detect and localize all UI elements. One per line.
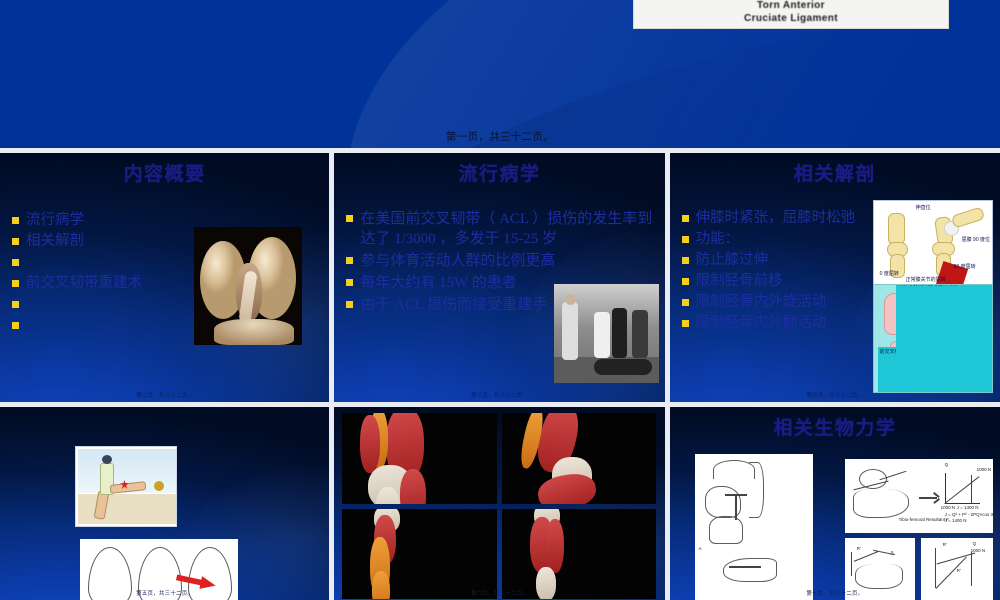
knee-muscle-3d-flexed bbox=[342, 509, 497, 600]
hero-card-line-1: Torn Anterior bbox=[757, 0, 825, 12]
square-bullet-icon bbox=[12, 322, 19, 329]
diagram-caption: Tibio-femoral Resultant F bbox=[899, 517, 993, 533]
list-item-label: 相关解剖 bbox=[26, 232, 84, 251]
square-bullet-icon bbox=[346, 257, 353, 264]
list-item-label: 功能： bbox=[696, 230, 740, 249]
list-item[interactable]: 在美国前交叉韧带（ ACL ）损伤的发生率到达了 1/3000 ，多发于 15-… bbox=[346, 209, 654, 249]
knee-muscle-3d-anterior bbox=[342, 413, 497, 504]
force-vector-knee-diagram-a: A bbox=[695, 454, 813, 600]
slide-title: 相关生物力学 bbox=[670, 413, 1000, 440]
list-item-label: 在美国前交叉韧带（ ACL ）损伤的发生率到达了 1/3000 ，多发于 15-… bbox=[360, 209, 654, 249]
slide-page-indicator: 第四页，共三十二页。 bbox=[670, 391, 1000, 399]
tibiofemoral-force-triangle-diagram: Q 1000 N 1000 N J = 1400 N J = Q² + P² -… bbox=[845, 459, 993, 533]
list-item-label: 每年大约有 15W 的患者 bbox=[360, 273, 516, 293]
square-bullet-icon bbox=[346, 279, 353, 286]
square-bullet-icon bbox=[12, 259, 19, 266]
list-item-label: 由于 ACL 损伤而接受重建手 bbox=[360, 295, 547, 315]
slide-title: 流行病学 bbox=[334, 159, 664, 186]
slide-title: 相关解剖 bbox=[670, 159, 1000, 186]
square-bullet-icon bbox=[682, 236, 689, 243]
hero-title-card: Torn Anterior Cruciate Ligament bbox=[633, 0, 949, 29]
list-item-label: 流行病学 bbox=[26, 211, 84, 230]
slide-page-indicator: 第五页，共三十二页。 bbox=[0, 589, 329, 597]
slide-outline[interactable]: 内容概要 流行病学 相关解剖 bbox=[0, 153, 329, 402]
knee-muscle-3d-lateral bbox=[502, 413, 657, 504]
slide-mechanism[interactable]: 第五页，共三十二页。 bbox=[0, 407, 329, 600]
slide-deck-overview: Torn Anterior Cruciate Ligament 第一页，共三十二… bbox=[0, 0, 1000, 600]
square-bullet-icon bbox=[12, 238, 19, 245]
slide-page-indicator: 第六页，共三十二页。 bbox=[334, 589, 664, 597]
square-bullet-icon bbox=[346, 215, 353, 222]
list-item-label: 伸膝时紧张，屈膝时松弛 bbox=[696, 209, 856, 228]
square-bullet-icon bbox=[346, 301, 353, 308]
list-item-label: 限制胫骨内外旋活动 bbox=[696, 293, 827, 312]
diagram-label: 伸膝时前交叉拉动胫骨向前 bbox=[896, 284, 993, 388]
knee-specimen-photo bbox=[194, 227, 302, 345]
sports-injury-photo bbox=[554, 284, 659, 383]
square-bullet-icon bbox=[682, 299, 689, 306]
list-item[interactable]: 参与体育活动人群的比例更高 bbox=[346, 251, 654, 271]
hero-slide[interactable]: Torn Anterior Cruciate Ligament 第一页，共三十二… bbox=[0, 0, 1000, 148]
slide-row-bottom: 第五页，共三十二页。 bbox=[0, 407, 1000, 600]
list-item-label: 限制胫骨前移 bbox=[696, 272, 783, 291]
list-item-label: 参与体育活动人群的比例更高 bbox=[360, 251, 555, 271]
hero-page-indicator: 第一页，共三十二页。 bbox=[0, 129, 1000, 144]
slide-muscle-anatomy[interactable]: 第六页，共三十二页。 bbox=[334, 407, 664, 600]
slide-title: 内容概要 bbox=[0, 159, 329, 186]
square-bullet-icon bbox=[682, 257, 689, 264]
hero-card-line-2: Cruciate Ligament bbox=[744, 12, 838, 25]
list-item-label: 前交叉韧带重建术 bbox=[26, 274, 142, 293]
slide-epidemiology[interactable]: 流行病学 在美国前交叉韧带（ ACL ）损伤的发生率到达了 1/3000 ，多发… bbox=[334, 153, 664, 402]
slide-biomechanics[interactable]: 相关生物力学 A bbox=[670, 407, 1000, 600]
list-item-label: 防止膝过伸 bbox=[696, 251, 769, 270]
square-bullet-icon bbox=[682, 215, 689, 222]
square-bullet-icon bbox=[12, 301, 19, 308]
muscle-image-grid bbox=[342, 413, 656, 599]
slide-page-indicator: 第三页，共三十二页。 bbox=[334, 391, 664, 399]
kicking-athlete-illustration bbox=[75, 446, 177, 527]
slide-page-indicator: 第七页，共三十二页。 bbox=[670, 589, 1000, 597]
square-bullet-icon bbox=[12, 280, 19, 287]
slide-row-top: 内容概要 流行病学 相关解剖 bbox=[0, 153, 1000, 402]
slide-page-indicator: 第二页，共三十二页。 bbox=[0, 391, 329, 399]
square-bullet-icon bbox=[12, 217, 19, 224]
acl-traction-diagram: 前交叉韧 伸膝时前交叉拉动胫骨向前 bbox=[873, 284, 993, 393]
knee-flexion-diagram: 伸直位 屈膝 90 度位 0 度屈转 90 度屈转 正常膝关节的屈转 bbox=[873, 200, 993, 285]
square-bullet-icon bbox=[682, 320, 689, 327]
square-bullet-icon bbox=[682, 278, 689, 285]
knee-muscle-3d-posterior bbox=[502, 509, 657, 600]
list-item-label: 限制胫骨内外翻活动 bbox=[696, 314, 827, 333]
slide-anatomy[interactable]: 相关解剖 伸膝时紧张，屈膝时松弛 功能： 防止膝过伸 bbox=[670, 153, 1000, 402]
